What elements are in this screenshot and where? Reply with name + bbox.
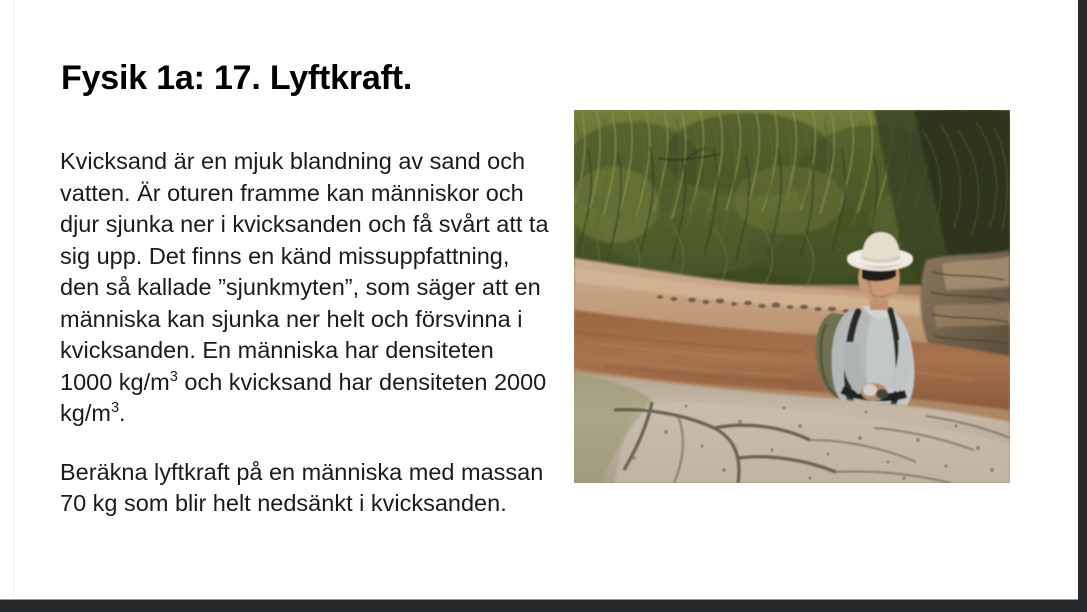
quicksand-photo (574, 110, 1010, 483)
frame-edge-right (1078, 0, 1087, 612)
text-run: Beräkna lyftkraft på en människa med mas… (60, 459, 543, 517)
page-title: Fysik 1a: 17. Lyftkraft. (61, 59, 412, 98)
paragraph-description: Kvicksand är en mjuk blandning av sand o… (60, 146, 552, 430)
photo-illustration (574, 110, 1010, 483)
frame-edge-bottom (0, 600, 1087, 612)
body-text-block: Kvicksand är en mjuk blandning av sand o… (60, 146, 552, 520)
superscript-exponent: 3 (170, 369, 178, 385)
superscript-exponent: 3 (111, 400, 119, 416)
paragraph-task: Beräkna lyftkraft på en människa med mas… (60, 457, 552, 520)
slide-canvas: Fysik 1a: 17. Lyftkraft. Kvicksand är en… (13, 0, 1079, 600)
slide-frame: Fysik 1a: 17. Lyftkraft. Kvicksand är en… (0, 0, 1087, 612)
text-run: . (119, 400, 126, 426)
text-run: Kvicksand är en mjuk blandning av sand o… (60, 148, 549, 395)
